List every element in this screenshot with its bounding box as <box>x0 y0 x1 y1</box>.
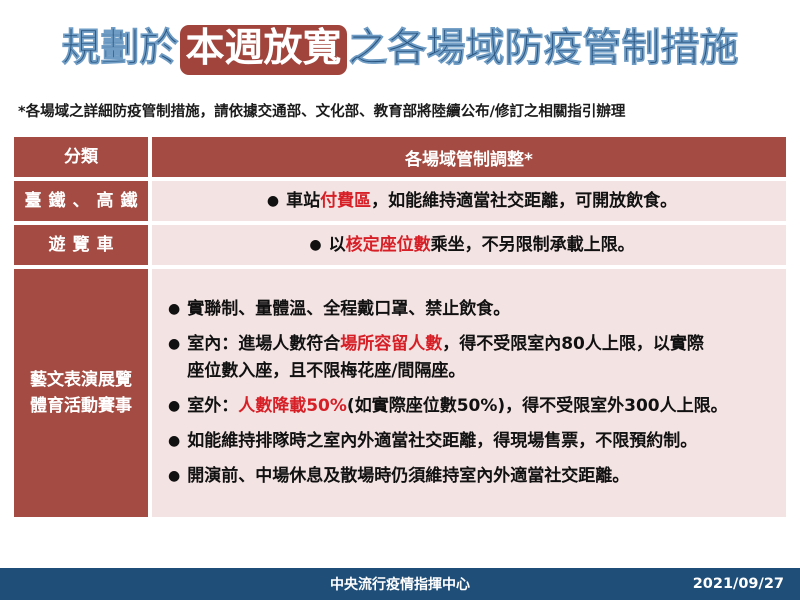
table-header-category: 分類 <box>14 137 148 177</box>
footer-date: 2021/09/27 <box>693 576 784 592</box>
page-title-highlight: 本週放寬 <box>180 25 346 75</box>
text-segment: ，得不受限室內80人上限，以實際 <box>442 334 704 354</box>
row-category-tourbus: 遊覽車 <box>14 225 148 265</box>
row-category-rail: 臺鐵、高鐵 <box>14 181 148 221</box>
bullet-text: 以核定座位數乘坐，不另限制承載上限。 <box>329 232 635 259</box>
text-segment: ，如能維持適當社交距離，可開放飲食。 <box>371 191 677 211</box>
bullet-text: 車站付費區，如能維持適當社交距離，可開放飲食。 <box>286 188 677 215</box>
bullet-text: 室內：進場人數符合場所容留人數，得不受限室內80人上限，以實際 座位數入座，且不… <box>187 331 776 385</box>
text-segment: 如能維持排隊時之室內外適當社交距離，得現場售票，不限預約制。 <box>187 431 697 451</box>
table-header-row: 分類 各場域管制調整* <box>14 137 786 177</box>
bullet-item: ● 室外：人數降載50%(如實際座位數50%)，得不受限室外300人上限。 <box>168 393 776 420</box>
table-row: 遊覽車 ● 以核定座位數乘坐，不另限制承載上限。 <box>14 225 786 265</box>
text-segment: (如實際座位數50%)，得不受限室外300人上限。 <box>347 396 728 416</box>
bullet-text: 開演前、中場休息及散場時仍須維持室內外適當社交距離。 <box>187 463 776 490</box>
bullet-dot-icon: ● <box>168 463 180 490</box>
row-category-line-2: 體育活動賽事 <box>30 393 132 419</box>
page-title-prefix: 規劃於 <box>61 26 178 71</box>
bullet-item: ● 如能維持排隊時之室內外適當社交距離，得現場售票，不限預約制。 <box>168 428 776 455</box>
row-content-tourbus: ● 以核定座位數乘坐，不另限制承載上限。 <box>152 225 786 265</box>
row-content-arts-sports: ● 實聯制、量體溫、全程戴口罩、禁止飲食。 ● 室內：進場人數符合場所容留人數，… <box>152 269 786 517</box>
footnote-text: *各場域之詳細防疫管制措施，請依據交通部、文化部、教育部將陸續公布/修訂之相關指… <box>18 100 782 121</box>
table-header-adjustment: 各場域管制調整* <box>152 137 786 177</box>
text-segment-highlight: 場所容留人數 <box>340 334 442 354</box>
text-segment: 室外： <box>187 396 238 416</box>
page-title-suffix: 之各場域防疫管制措施 <box>349 26 739 71</box>
bullet-dot-icon: ● <box>168 393 180 420</box>
text-segment: 實聯制、量體溫、全程戴口罩、禁止飲食。 <box>187 299 510 319</box>
bullet-item: ● 以核定座位數乘坐，不另限制承載上限。 <box>309 232 634 259</box>
bullet-item: ● 開演前、中場休息及散場時仍須維持室內外適當社交距離。 <box>168 463 776 490</box>
text-segment-highlight: 核定座位數 <box>346 235 431 255</box>
page-title: 規劃於本週放寬之各場域防疫管制措施 <box>0 22 800 76</box>
row-category-arts-sports: 藝文表演展覽 體育活動賽事 <box>14 269 148 517</box>
bullet-dot-icon: ● <box>309 232 321 259</box>
bullet-item: ● 室內：進場人數符合場所容留人數，得不受限室內80人上限，以實際 座位數入座，… <box>168 331 776 385</box>
bullet-dot-icon: ● <box>168 296 180 323</box>
page-title-text: 規劃於本週放寬之各場域防疫管制措施 <box>61 22 738 76</box>
bullet-item: ● 車站付費區，如能維持適當社交距離，可開放飲食。 <box>267 188 677 215</box>
text-segment-highlight: 付費區 <box>320 191 371 211</box>
footer-bar: 中央流行疫情指揮中心 2021/09/27 <box>0 568 800 600</box>
bullet-text: 實聯制、量體溫、全程戴口罩、禁止飲食。 <box>187 296 776 323</box>
table-row: 臺鐵、高鐵 ● 車站付費區，如能維持適當社交距離，可開放飲食。 <box>14 181 786 221</box>
bullet-dot-icon: ● <box>168 331 180 358</box>
text-segment: 室內：進場人數符合 <box>187 334 340 354</box>
measures-table: 分類 各場域管制調整* 臺鐵、高鐵 ● 車站付費區，如能維持適當社交距離，可開放… <box>14 137 786 521</box>
text-segment: 以 <box>329 235 346 255</box>
text-segment: 車站 <box>286 191 320 211</box>
bullet-text-continuation: 座位數入座，且不限梅花座/間隔座。 <box>187 358 776 385</box>
text-segment-highlight: 人數降載50% <box>238 396 347 416</box>
row-category-line-1: 藝文表演展覽 <box>30 367 132 393</box>
row-content-rail: ● 車站付費區，如能維持適當社交距離，可開放飲食。 <box>152 181 786 221</box>
footer-organization: 中央流行疫情指揮中心 <box>0 574 800 594</box>
text-segment: 乘坐，不另限制承載上限。 <box>431 235 635 255</box>
text-segment: 開演前、中場休息及散場時仍須維持室內外適當社交距離。 <box>187 466 629 486</box>
table-row: 藝文表演展覽 體育活動賽事 ● 實聯制、量體溫、全程戴口罩、禁止飲食。 ● 室內… <box>14 269 786 517</box>
bullet-text: 室外：人數降載50%(如實際座位數50%)，得不受限室外300人上限。 <box>187 393 776 420</box>
bullet-dot-icon: ● <box>168 428 180 455</box>
bullet-text: 如能維持排隊時之室內外適當社交距離，得現場售票，不限預約制。 <box>187 428 776 455</box>
bullet-dot-icon: ● <box>267 188 279 215</box>
bullet-item: ● 實聯制、量體溫、全程戴口罩、禁止飲食。 <box>168 296 776 323</box>
